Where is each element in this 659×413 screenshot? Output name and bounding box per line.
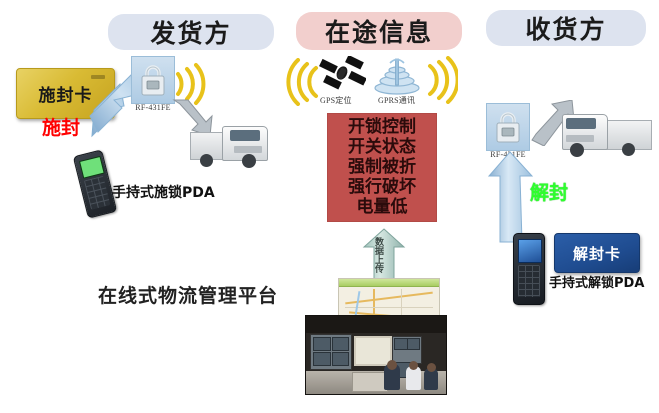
- smart-lock-device-left: [131, 56, 175, 104]
- alarm-item-4: 电量低: [357, 198, 408, 217]
- truck-wheel-rear-right: [622, 143, 635, 156]
- handheld-pda-left: [73, 149, 118, 218]
- unseal-action-label: 解封: [530, 178, 568, 205]
- alarm-item-1: 开关状态: [348, 138, 416, 157]
- alarm-item-3: 强行破坏: [348, 178, 416, 197]
- video-wall-tile-6: [407, 338, 420, 350]
- truck-windshield-right: [566, 118, 596, 129]
- projection-screen: [354, 336, 392, 366]
- padlock-icon-right: [493, 110, 523, 144]
- diagram-canvas: 发货方 在途信息 收货方 施封卡 施封: [0, 0, 659, 413]
- map-road-5: [345, 307, 433, 308]
- map-toolbar: [339, 279, 439, 287]
- alarm-status-panel: 开锁控制 开关状态 强制被折 强行破坏 电量低: [327, 113, 437, 222]
- seal-action-label: 施封: [42, 113, 80, 140]
- operator-1-head: [387, 360, 397, 370]
- video-wall-tile-2: [332, 337, 349, 351]
- unseal-card: 解封卡: [554, 233, 640, 273]
- unseal-flow-arrow-icon: [488, 150, 536, 244]
- truck-grille: [234, 146, 262, 153]
- video-wall-tile-4: [332, 352, 349, 366]
- alarm-item-0: 开锁控制: [348, 118, 416, 137]
- truck-windshield: [230, 130, 260, 141]
- gprs-tower-icon: [372, 55, 422, 97]
- satellite-icon: [318, 56, 366, 98]
- gprs-label: GPRS通讯: [378, 95, 415, 106]
- truck-wheel-front-right: [570, 143, 584, 157]
- header-pill-consignee: 收货方: [486, 10, 646, 46]
- header-pill-shipper: 发货方: [108, 14, 274, 50]
- video-wall-tile-3: [313, 352, 331, 366]
- control-room-photo: [305, 315, 447, 395]
- truck-wheel-front: [242, 154, 256, 168]
- pda-keypad-left: [84, 176, 111, 210]
- header-label-consignee: 收货方: [525, 10, 606, 46]
- pda-label-left: 手持式施锁PDA: [112, 182, 215, 202]
- truck-grille-right: [566, 135, 594, 142]
- header-label-shipper: 发货方: [150, 14, 231, 50]
- room-ceiling: [306, 316, 446, 333]
- header-pill-intransit: 在途信息: [296, 12, 462, 50]
- header-label-intransit: 在途信息: [325, 13, 433, 49]
- smart-lock-device-right: [486, 103, 530, 151]
- pda-label-right: 手持式解锁PDA: [549, 272, 644, 291]
- data-upload-arrow-label: 数据上传: [368, 237, 382, 273]
- platform-label: 在线式物流管理平台: [98, 281, 278, 308]
- seal-card-label: 施封卡: [39, 81, 93, 106]
- handheld-pda-right: [513, 233, 545, 305]
- gps-label: GPS定位: [320, 95, 352, 106]
- pda-keypad-right: [518, 265, 540, 297]
- alarm-item-2: 强制被折: [348, 158, 416, 177]
- truck-wheel-rear: [200, 154, 213, 167]
- smart-lock-model-left: RF-431FE: [131, 103, 175, 112]
- operator-desk: [352, 372, 388, 392]
- operator-2-head: [409, 361, 418, 370]
- pda-screen-right: [518, 239, 542, 263]
- video-wall-tile-5: [394, 338, 408, 350]
- truck-left: [190, 122, 276, 170]
- operator-3-head: [427, 363, 436, 372]
- unseal-card-label: 解封卡: [573, 243, 621, 264]
- padlock-icon: [138, 63, 168, 97]
- signal-arc-right-icon: [424, 56, 458, 104]
- video-wall-tile-1: [313, 337, 331, 351]
- truck-right: [558, 110, 654, 162]
